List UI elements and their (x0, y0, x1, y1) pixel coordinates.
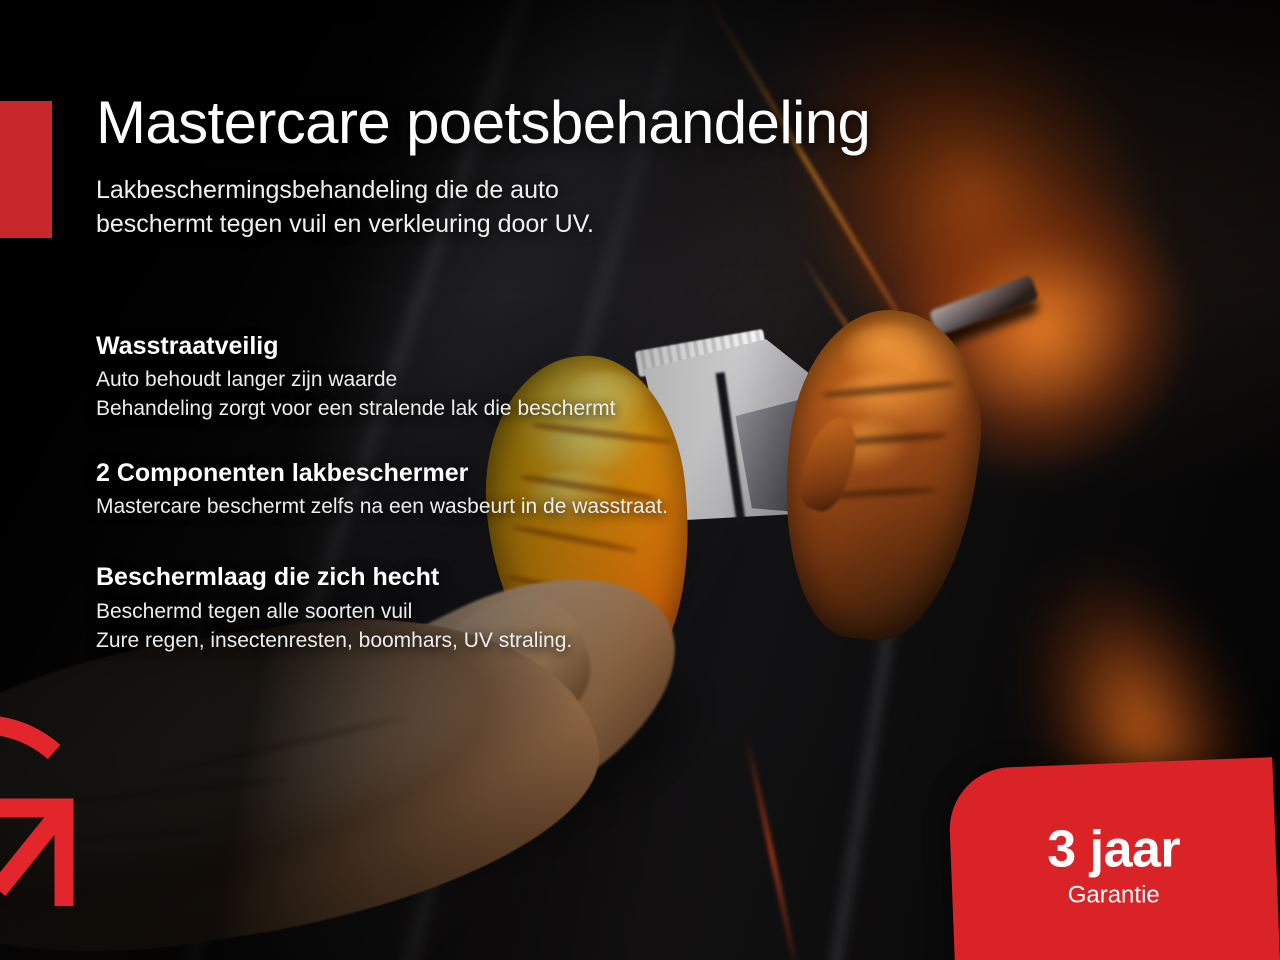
feature-heading: Beschermlaag die zich hecht (96, 562, 916, 593)
promo-banner: Mastercare poetsbehandeling Lakbeschermi… (0, 0, 1280, 960)
feature-heading: Wasstraatveilig (96, 331, 916, 362)
warranty-label: Garantie (1068, 883, 1160, 907)
page-title: Mastercare poetsbehandeling (96, 91, 870, 154)
feature-line: Beschermd tegen alle soorten vuil (96, 598, 916, 627)
accent-bar (0, 101, 52, 238)
feature-item: Wasstraatveilig Auto behoudt langer zijn… (96, 331, 916, 424)
warranty-badge-content: 3 jaar Garantie (951, 763, 1276, 960)
feature-list: Wasstraatveilig Auto behoudt langer zijn… (96, 331, 916, 682)
feature-line: Auto behoudt langer zijn waarde (96, 366, 916, 395)
warranty-years: 3 jaar (1047, 823, 1180, 875)
warranty-badge: 3 jaar Garantie (947, 757, 1280, 960)
circular-arrow-logo-icon (0, 688, 166, 938)
feature-item: Beschermlaag die zich hecht Beschermd te… (96, 562, 916, 655)
page-subtitle: Lakbeschermingsbehandeling die de auto b… (96, 173, 594, 241)
feature-item: 2 Componenten lakbeschermer Mastercare b… (96, 458, 916, 522)
feature-line: Mastercare beschermt zelfs na een wasbeu… (96, 493, 916, 522)
subtitle-line-2: beschermt tegen vuil en verkleuring door… (96, 207, 594, 241)
feature-heading: 2 Componenten lakbeschermer (96, 458, 916, 489)
feature-line: Zure regen, insectenresten, boomhars, UV… (96, 627, 916, 656)
feature-line: Behandeling zorgt voor een stralende lak… (96, 395, 916, 424)
subtitle-line-1: Lakbeschermingsbehandeling die de auto (96, 173, 594, 207)
